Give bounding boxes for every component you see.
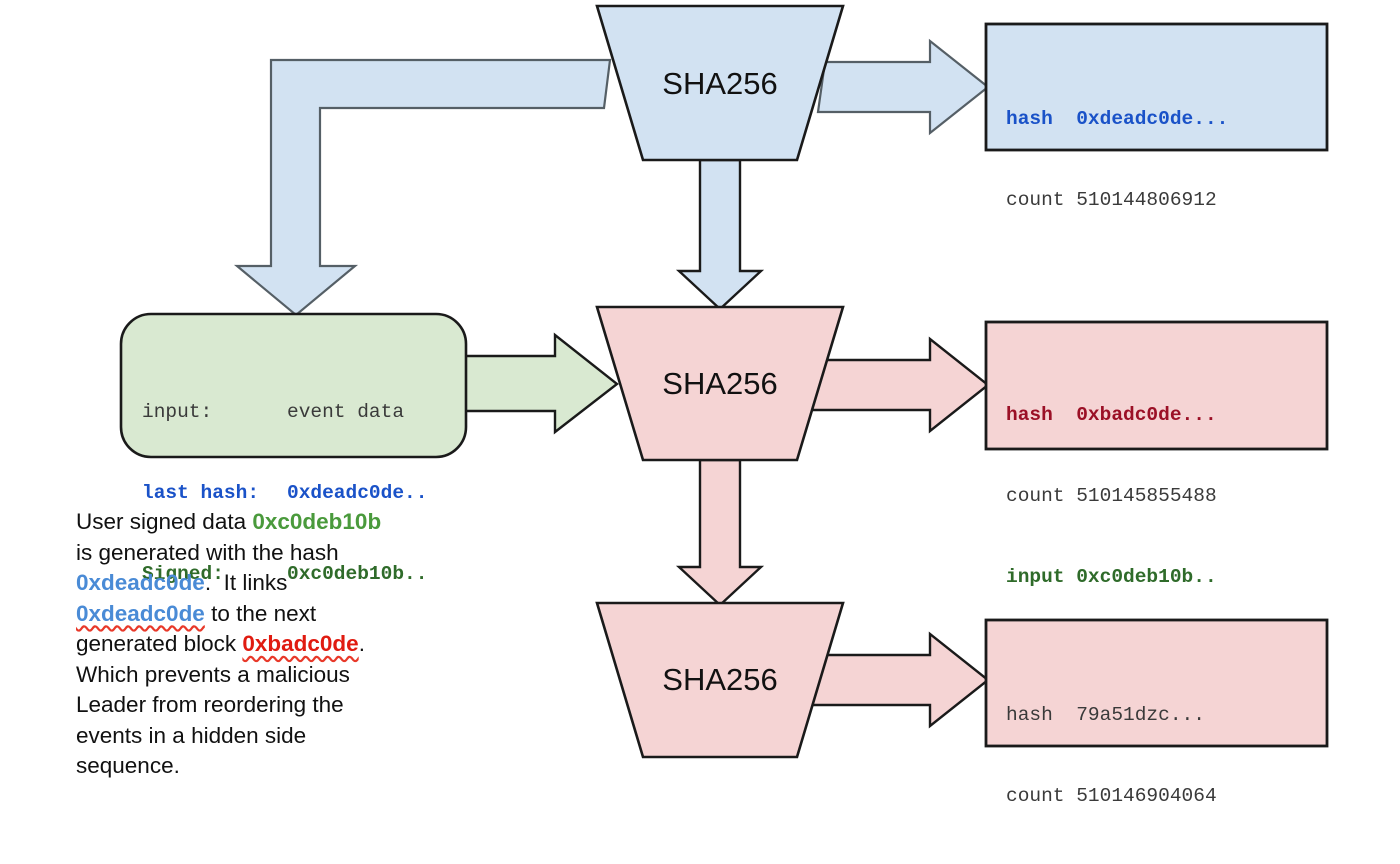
event-row-1: input:event data (142, 399, 427, 426)
event-row-2-value: 0xdeadc0de.. (287, 482, 427, 504)
event-row-1-value: event data (287, 401, 404, 423)
output-top-line-1-value: 0xdeadc0de... (1065, 108, 1229, 130)
output-middle-line-3-value: 0xc0deb10b.. (1065, 566, 1217, 588)
output-bottom-line-1: hash 79a51dzc... (1006, 702, 1217, 729)
arrow-sha-middle-to-output (812, 339, 988, 431)
para-seg-3-hash: 0xdeadc0de (76, 570, 205, 595)
para-seg-4: . It links (205, 570, 288, 595)
output-box-top-text: hash 0xdeadc0de... count 510144806912 (1006, 52, 1228, 268)
output-top-line-2-value: 510144806912 (1065, 189, 1217, 211)
output-box-bottom-text: hash 79a51dzc... count 510146904064 (1006, 648, 1217, 864)
para-seg-6a: to the next (205, 601, 316, 626)
para-seg-8c: Leader from reordering the (76, 692, 344, 717)
output-middle-line-3-key: input (1006, 566, 1065, 588)
event-row-2: last hash:0xdeadc0de.. (142, 480, 427, 507)
output-top-line-2-key: count (1006, 189, 1065, 211)
arrow-sha-top-elbow-to-event (237, 60, 610, 315)
output-bottom-line-2: count 510146904064 (1006, 783, 1217, 810)
para-seg-8b: Which prevents a malicious (76, 662, 350, 687)
output-middle-line-1-value: 0xbadc0de... (1065, 404, 1217, 426)
para-seg-1-signed-data: 0xc0deb10b (252, 509, 381, 534)
arrow-sha-middle-to-sha-bottom (679, 460, 761, 605)
output-bottom-line-2-value: 510146904064 (1065, 785, 1217, 807)
para-seg-2: is generated with the hash (76, 540, 339, 565)
output-middle-line-1-key: hash (1006, 404, 1065, 426)
arrow-event-to-sha-middle (462, 335, 617, 432)
para-seg-8a: . (359, 631, 365, 656)
para-seg-8e: sequence. (76, 753, 180, 778)
output-middle-line-2-key: count (1006, 485, 1065, 507)
output-top-line-1: hash 0xdeadc0de... (1006, 106, 1228, 133)
arrow-sha-top-to-sha-middle (679, 160, 761, 309)
output-bottom-line-2-key: count (1006, 785, 1065, 807)
sha256-bottom-label: SHA256 (662, 662, 777, 697)
output-bottom-line-1-value: 79a51dzc... (1065, 704, 1205, 726)
output-middle-line-2: count 510145855488 (1006, 483, 1217, 510)
event-row-1-label: input: (142, 399, 287, 426)
para-seg-5-hash-misspelled: 0xdeadc0de (76, 601, 205, 626)
output-box-middle-text: hash 0xbadc0de... count 510145855488 inp… (1006, 348, 1217, 645)
para-seg-7-next-hash-misspelled: 0xbadc0de (242, 631, 358, 656)
event-row-2-label: last hash: (142, 480, 287, 507)
para-seg-0: User signed data (76, 509, 252, 534)
output-top-line-1-key: hash (1006, 108, 1065, 130)
output-top-line-2: count 510144806912 (1006, 187, 1228, 214)
arrow-sha-top-to-output (818, 41, 988, 133)
arrow-sha-bottom-to-output (812, 634, 988, 726)
output-middle-line-1: hash 0xbadc0de... (1006, 402, 1217, 429)
output-middle-line-2-value: 510145855488 (1065, 485, 1217, 507)
para-seg-8d: events in a hidden side (76, 723, 306, 748)
output-middle-line-3: input 0xc0deb10b.. (1006, 564, 1217, 591)
explanation-paragraph: User signed data 0xc0deb10bis generated … (76, 507, 386, 782)
output-bottom-line-1-key: hash (1006, 704, 1065, 726)
diagram-canvas: SHA256 SHA256 SHA256 hash 0xdeadc0de... … (0, 0, 1400, 786)
sha256-top-label: SHA256 (662, 66, 777, 101)
sha256-middle-label: SHA256 (662, 366, 777, 401)
para-seg-6b: generated block (76, 631, 242, 656)
